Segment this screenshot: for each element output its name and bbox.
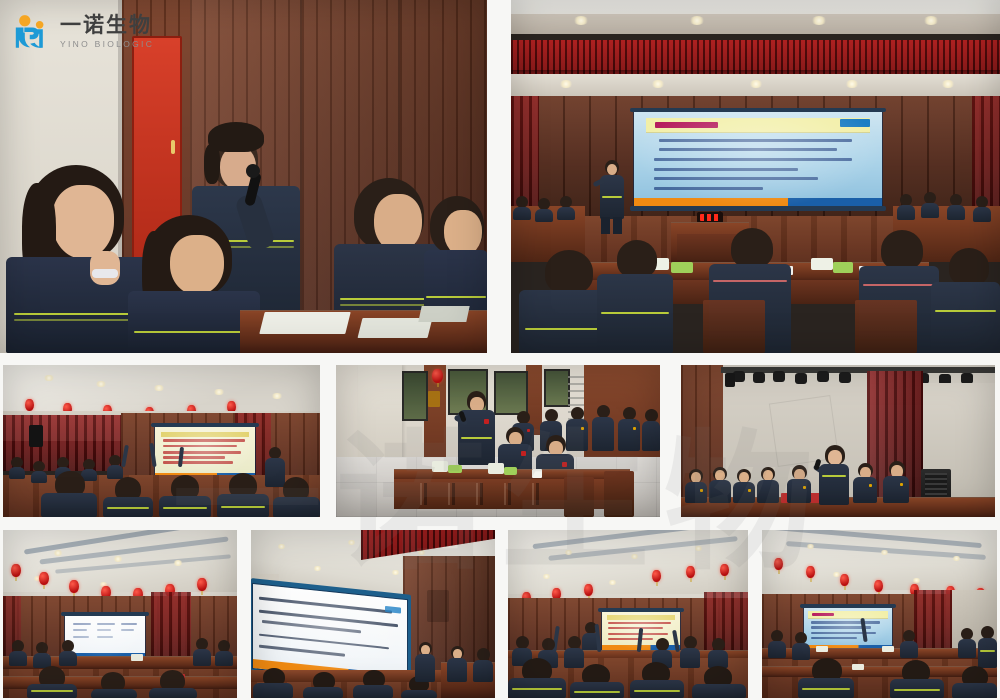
photo-5-scene [681, 365, 995, 517]
logo-text-block: 一诺生物 YINO BIOLOGIC [60, 15, 154, 49]
photo-2-scene [511, 0, 1000, 353]
photo-2[interactable] [511, 0, 1000, 353]
photo-4-scene [336, 365, 660, 517]
logo-name-cn: 一诺生物 [60, 15, 154, 36]
person-fg-2 [597, 240, 673, 353]
photo-4[interactable] [336, 365, 660, 517]
photo-8-scene [508, 530, 748, 698]
projector-screen-main [634, 112, 882, 208]
photo-5[interactable] [681, 365, 995, 517]
photo-6[interactable] [3, 530, 237, 698]
photo-9-scene [762, 530, 997, 698]
projector-screen-9 [804, 608, 892, 650]
photo-6-scene [3, 530, 237, 698]
photo-7-scene [251, 530, 495, 698]
person-presenter [599, 160, 625, 234]
projector-screen-3 [155, 427, 255, 479]
collage-page: 一诺生物 [0, 0, 1000, 700]
yino-biologic-mark-icon [12, 14, 52, 50]
photo-1-scene [0, 0, 487, 353]
person-fg-5 [931, 248, 1000, 353]
photo-1[interactable] [0, 0, 487, 353]
person-question-asker [819, 445, 849, 505]
photo-3-scene [3, 365, 320, 517]
projector-screen-6 [65, 616, 145, 658]
logo-name-en: YINO BIOLOGIC [60, 40, 154, 49]
company-logo[interactable]: 一诺生物 YINO BIOLOGIC [12, 14, 154, 50]
photo-3[interactable] [3, 365, 320, 517]
photo-7[interactable] [251, 530, 495, 698]
photo-8[interactable] [508, 530, 748, 698]
photo-9[interactable] [762, 530, 997, 698]
